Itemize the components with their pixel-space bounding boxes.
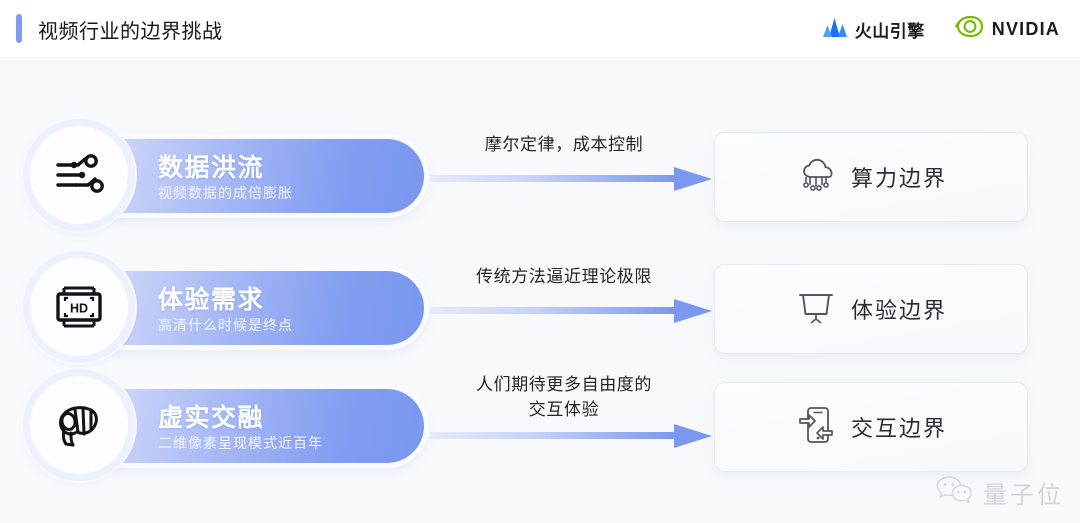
arrow-label-line-1: 人们期待更多自由度的 xyxy=(430,372,698,397)
arrow-head xyxy=(674,299,712,323)
arrow-stem xyxy=(430,307,678,314)
hd-display-icon: HD xyxy=(30,258,128,356)
pill-subtitle: 二维像素呈现模式近百年 xyxy=(158,433,323,453)
challenge-pill[interactable]: 数据洪流 视频数据的成倍膨胀 xyxy=(84,139,424,213)
transition-arrow: 传统方法逼近理论极限 xyxy=(430,252,712,362)
watermark: 量子位 xyxy=(935,474,1064,511)
arrow-stem xyxy=(430,432,678,439)
logo-group: 火山引擎 NVIDIA xyxy=(822,14,1060,44)
arrow-label-line-2: 交互体验 xyxy=(430,397,698,422)
transition-arrow: 人们期待更多自由度的 交互体验 xyxy=(430,370,712,480)
challenge-pill[interactable]: 虚实交融 二维像素呈现模式近百年 xyxy=(84,389,424,463)
pill-subtitle: 高清什么时候是终点 xyxy=(158,315,293,335)
boundary-card[interactable]: 体验边界 xyxy=(714,264,1028,354)
arrow-label-line-1: 摩尔定律，成本控制 xyxy=(430,132,698,157)
arrow-stem xyxy=(430,175,678,182)
volcano-engine-label: 火山引擎 xyxy=(855,17,925,42)
challenge-row: 虚实交融 二维像素呈现模式近百年 人们期待更多自由度的 交互体验 xyxy=(0,370,1080,480)
projector-screen-icon xyxy=(795,288,837,331)
boundary-card[interactable]: 交互边界 xyxy=(714,382,1028,472)
arrow-head xyxy=(674,424,712,448)
challenge-row: 数据洪流 视频数据的成倍膨胀 摩尔定律，成本控制 xyxy=(0,120,1080,230)
challenge-pill[interactable]: 体验需求 高清什么时候是终点 xyxy=(84,271,424,345)
wechat-icon xyxy=(935,474,975,511)
pill-title: 虚实交融 xyxy=(158,398,264,434)
boundary-card-label: 算力边界 xyxy=(851,161,947,193)
arrow-label-line-1: 传统方法逼近理论极限 xyxy=(430,264,698,289)
svg-text:HD: HD xyxy=(70,302,88,316)
arrow-head xyxy=(674,167,712,191)
pill-title: 数据洪流 xyxy=(158,148,264,184)
phone-interaction-icon xyxy=(795,405,837,450)
nvidia-label: NVIDIA xyxy=(992,19,1060,40)
boundary-card-label: 体验边界 xyxy=(851,293,947,325)
boundary-card[interactable]: 算力边界 xyxy=(714,132,1028,222)
logo-volcano-engine: 火山引擎 xyxy=(822,16,925,43)
volcano-mountain-icon xyxy=(822,16,848,43)
page-header: 视频行业的边界挑战 火山引擎 NVIDIA xyxy=(0,0,1080,57)
boundary-card-label: 交互边界 xyxy=(851,411,947,443)
cloud-computing-icon xyxy=(795,156,837,199)
nvidia-eye-icon xyxy=(955,16,985,42)
page-title: 视频行业的边界挑战 xyxy=(38,15,223,44)
watermark-label: 量子位 xyxy=(983,475,1064,510)
transition-arrow: 摩尔定律，成本控制 xyxy=(430,120,712,230)
circuit-nodes-icon xyxy=(30,126,128,224)
challenge-row: 体验需求 高清什么时候是终点 HD 传统方法逼近理论极限 xyxy=(0,252,1080,362)
title-accent-bar xyxy=(16,14,22,43)
logo-nvidia: NVIDIA xyxy=(955,16,1060,42)
vr-headset-icon xyxy=(30,376,128,474)
pill-subtitle: 视频数据的成倍膨胀 xyxy=(158,183,293,203)
pill-title: 体验需求 xyxy=(158,280,264,316)
